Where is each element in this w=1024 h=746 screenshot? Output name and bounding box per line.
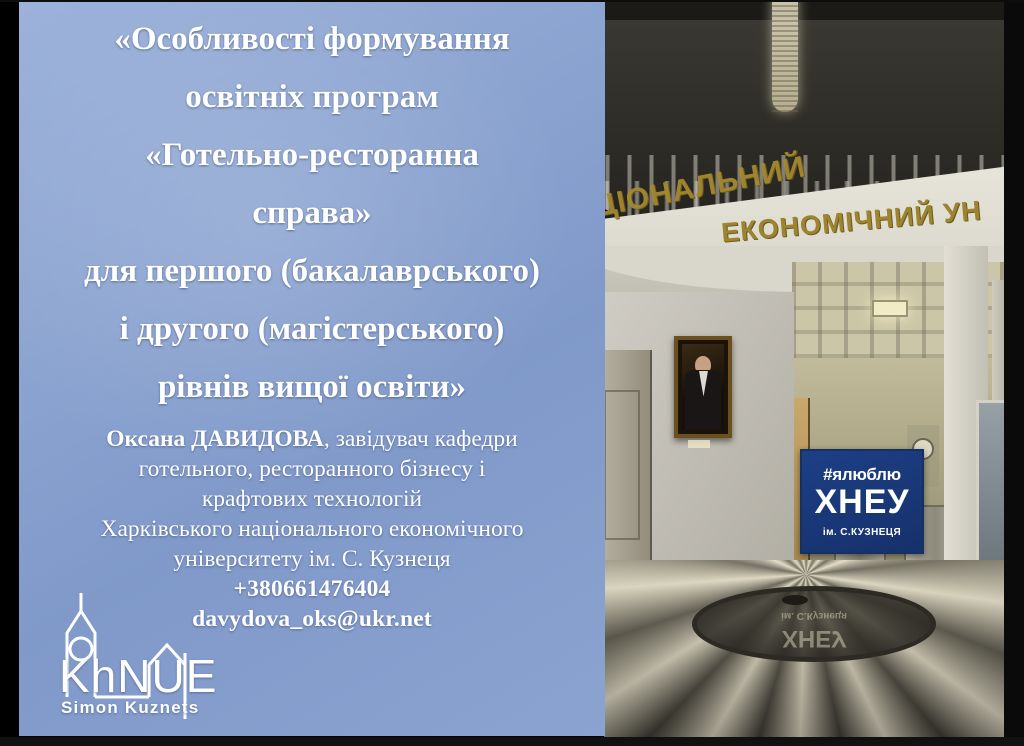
title-line-1: «Особливості формування: [19, 10, 605, 68]
affiliation-line-2: крафтових технологій: [19, 484, 605, 514]
portrait-picture-light: [688, 440, 710, 448]
banner-subtitle: ім. С.КУЗНЕЦЯ: [823, 528, 901, 538]
text-panel: «Особливості формування освітніх програм…: [19, 2, 605, 736]
university-lobby-photo: ЦІОНАЛЬНИЙ ЕКОНОМІЧНИЙ УН #ялюблю: [604, 0, 1008, 742]
portrait-canvas: [682, 344, 724, 430]
cabinet-panel: [604, 390, 640, 540]
letterbox-left: [0, 0, 19, 746]
banner-hashtag: #ялюблю: [823, 466, 901, 483]
affiliation-line-1: готельного, ресторанного бізнесу і: [19, 454, 605, 484]
title-line-6: і другого (магістерського): [19, 300, 605, 358]
author-name-line: Оксана ДАВИДОВА, завідувач кафедри: [19, 424, 605, 454]
author-name: Оксана ДАВИДОВА: [106, 426, 324, 452]
floor-banner-reflection: ХНЕУ ім. С.Кузнеця: [754, 592, 874, 652]
title-line-2: освітніх програм: [19, 68, 605, 126]
title-line-5: для першого (бакалаврського): [19, 242, 605, 300]
khnue-logo: KhNUE Simon Kuznets: [41, 591, 217, 726]
chandelier-beads: [772, 0, 798, 112]
floor-reflection-subtext: ім. С.Кузнеця: [754, 610, 874, 621]
logo-name: KhNUE: [59, 653, 217, 699]
banner-name: ХНЕУ: [814, 485, 909, 519]
letterbox-top: [0, 0, 1024, 2]
affiliation-line-3: Харківського національного економічного: [19, 514, 605, 544]
author-role: , завідувач кафедри: [324, 426, 518, 452]
framed-portrait: [674, 336, 732, 438]
letterbox-right: [1004, 0, 1024, 746]
ceiling-lamp: [872, 300, 908, 317]
slide-title: «Особливості формування освітніх програм…: [19, 2, 605, 416]
presentation-slide: ЦІОНАЛЬНИЙ ЕКОНОМІЧНИЙ УН #ялюблю: [0, 0, 1024, 746]
khneu-banner: #ялюблю ХНЕУ ім. С.КУЗНЕЦЯ: [800, 449, 924, 554]
affiliation-line-4: університету ім. С. Кузнеця: [19, 544, 605, 574]
letterbox-bottom: [0, 737, 1024, 746]
title-line-3: «Готельно-ресторанна: [19, 126, 605, 184]
floor-reflection-text: ХНЕУ: [782, 625, 846, 652]
crystal-chandelier: [772, 0, 798, 112]
title-line-4: справа»: [19, 184, 605, 242]
title-line-7: рівнів вищої освіти»: [19, 358, 605, 416]
logo-subtitle: Simon Kuznets: [61, 698, 199, 718]
